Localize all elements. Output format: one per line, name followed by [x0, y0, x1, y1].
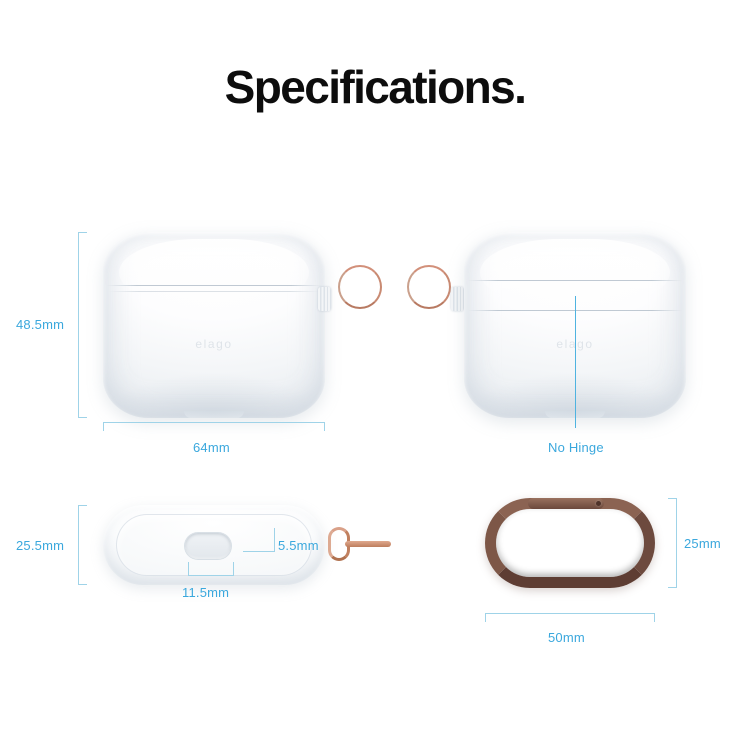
case-lid-notch	[184, 411, 244, 418]
dimension-label-width-front: 64mm	[193, 440, 230, 455]
carabiner-clip-bar	[345, 541, 391, 547]
case-seam-line-secondary	[109, 291, 319, 292]
no-hinge-label: No Hinge	[548, 440, 604, 455]
airpods-case-front: elago	[103, 232, 325, 418]
dimension-bracket-carabiner-height	[668, 498, 677, 588]
dimension-bracket-depth	[78, 505, 87, 585]
page-title: Specifications.	[0, 60, 750, 114]
dimension-label-height-front: 48.5mm	[16, 317, 64, 332]
dimension-bracket-port-width	[188, 562, 234, 576]
case-ring-tab-back	[451, 287, 464, 311]
specifications-page: Specifications. 48.5mm elago 64mm elago …	[0, 0, 750, 750]
dimension-label-carabiner-length: 50mm	[548, 630, 585, 645]
dimension-bracket-width-front	[103, 422, 325, 431]
carabiner-gate	[528, 498, 604, 509]
carabiner-ring-large	[485, 498, 655, 588]
dimension-label-port-width: 11.5mm	[182, 585, 229, 600]
dimension-bracket-port-height	[243, 528, 275, 552]
carabiner-gate-pin	[596, 501, 601, 506]
case-seam-line	[107, 285, 321, 286]
charging-port-cutout	[185, 533, 231, 559]
dimension-label-port-height: 5.5mm	[278, 538, 319, 553]
dimension-bracket-carabiner-length	[485, 613, 655, 622]
carabiner-ring-right	[407, 265, 451, 309]
elago-logo-front: elago	[103, 337, 325, 351]
dimension-label-carabiner-height: 25mm	[684, 536, 721, 551]
case-back-seam-top	[468, 280, 682, 281]
dimension-bracket-height-front	[78, 232, 87, 418]
case-ring-tab-front	[318, 287, 331, 311]
dimension-label-depth: 25.5mm	[16, 538, 64, 553]
carabiner-ring-left	[338, 265, 382, 309]
no-hinge-leader-line	[575, 296, 576, 428]
